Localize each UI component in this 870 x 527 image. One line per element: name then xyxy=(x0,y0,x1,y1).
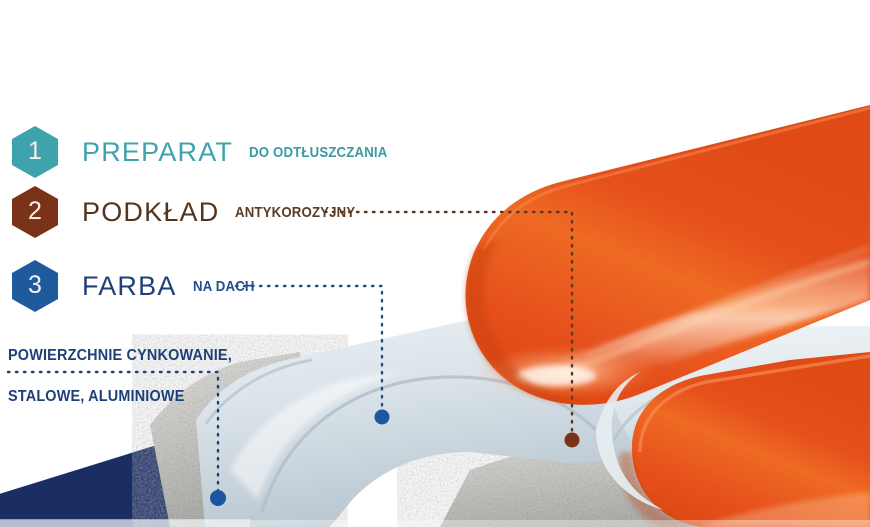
step-badge-2: 2 xyxy=(12,186,58,238)
step-number-1: 1 xyxy=(28,139,42,166)
legend-row-farba[interactable]: 3 FARBA NA DACH xyxy=(12,260,263,312)
step-number-2: 2 xyxy=(28,199,42,226)
surface-note-line-2: STALOWE, ALUMINIOWE xyxy=(8,387,232,408)
legend-row-podklad[interactable]: 2 PODKŁAD ANTYKOROZYJNY xyxy=(12,186,372,238)
step-subtitle-1: DO ODTŁUSZCZANIA xyxy=(249,144,387,161)
infographic-canvas: 1 PREPARAT DO ODTŁUSZCZANIA 2 PODKŁAD AN… xyxy=(0,0,870,527)
step-badge-1: 1 xyxy=(12,126,58,178)
legend-row-preparat[interactable]: 1 PREPARAT DO ODTŁUSZCZANIA xyxy=(12,126,407,178)
surface-note-line-1: POWIERZCHNIE CYNKOWANIE, xyxy=(8,346,232,367)
step-title-3: FARBA xyxy=(82,271,177,302)
surface-note: POWIERZCHNIE CYNKOWANIE, STALOWE, ALUMIN… xyxy=(8,325,232,428)
step-subtitle-2: ANTYKOROZYJNY xyxy=(235,204,355,221)
step-badge-3: 3 xyxy=(12,260,58,312)
legend: 1 PREPARAT DO ODTŁUSZCZANIA 2 PODKŁAD AN… xyxy=(0,0,870,527)
step-title-2: PODKŁAD xyxy=(82,197,219,228)
step-number-3: 3 xyxy=(28,273,42,300)
step-title-1: PREPARAT xyxy=(82,137,233,168)
step-subtitle-3: NA DACH xyxy=(193,278,255,295)
